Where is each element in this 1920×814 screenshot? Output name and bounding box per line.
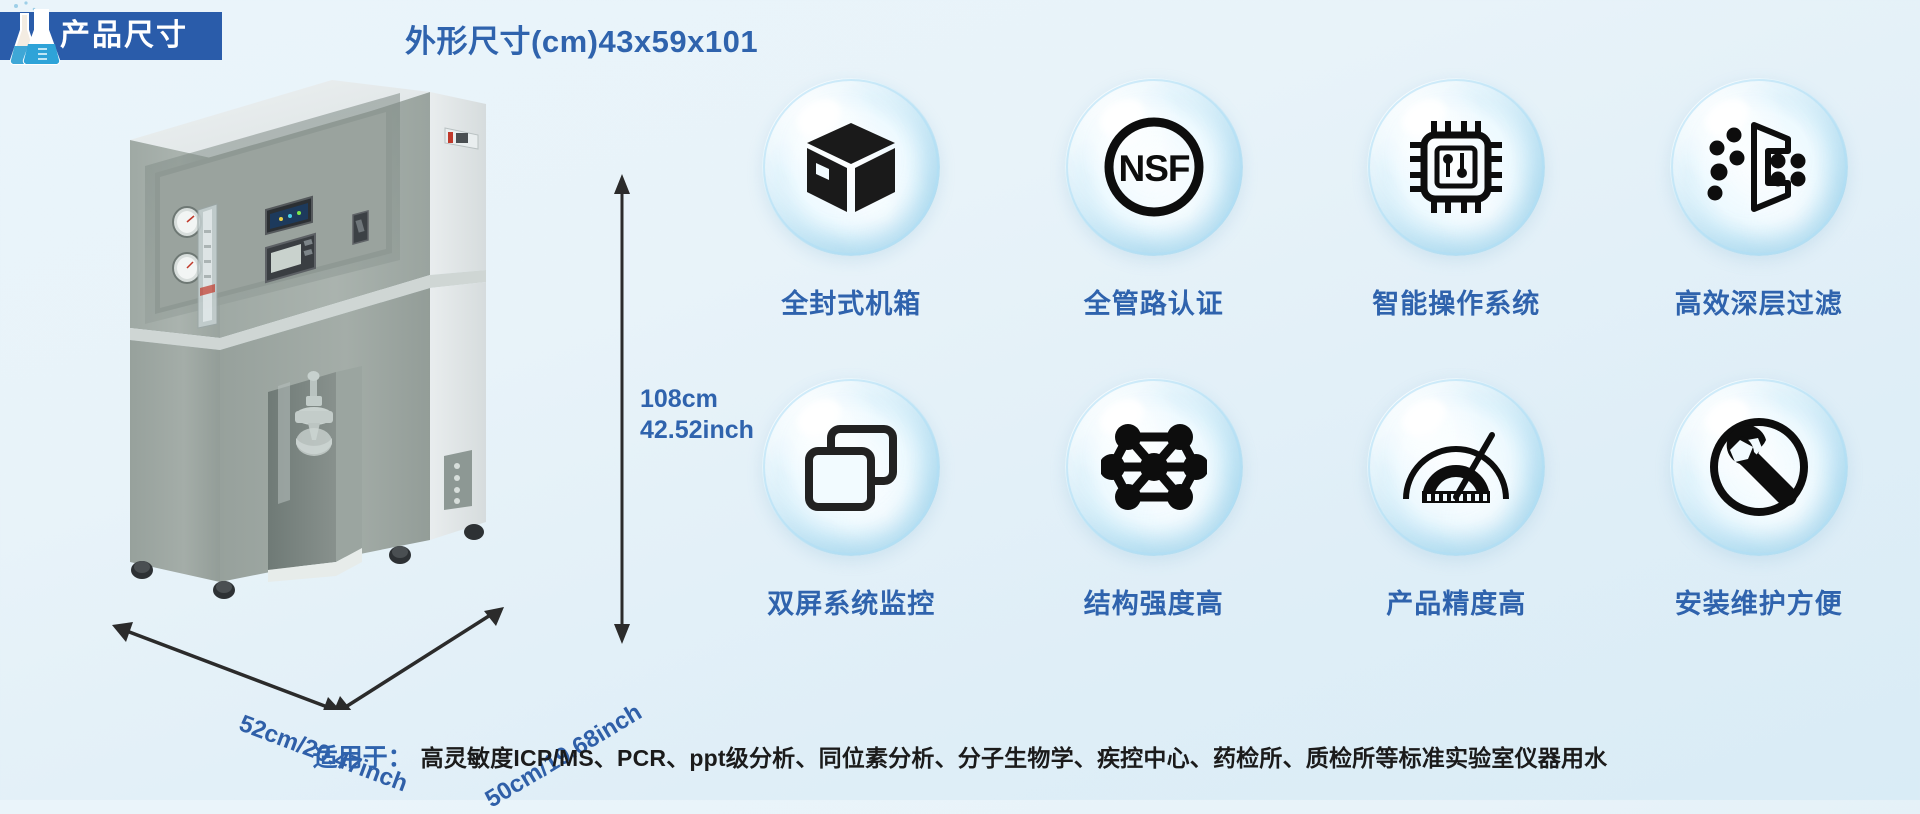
feature-bubble: NSF <box>1065 78 1243 256</box>
lattice-icon <box>1101 415 1207 519</box>
feature-item-nsf-certified[interactable]: NSF 全管路认证 <box>1003 78 1306 378</box>
feature-bubble <box>1065 378 1243 556</box>
feature-bubble <box>1670 378 1848 556</box>
gauge-icon <box>1400 427 1512 507</box>
product-figure: 108cm 42.52inch 52cm/20.47inch 50cm/19.6… <box>100 70 660 710</box>
feature-label: 产品精度高 <box>1386 582 1526 621</box>
feature-label: 全封式机箱 <box>781 282 921 321</box>
feature-bubble <box>762 78 940 256</box>
feature-label: 全管路认证 <box>1084 282 1224 321</box>
feature-label: 双屏系统监控 <box>767 582 935 621</box>
feature-bubble <box>762 378 940 556</box>
filter-icon <box>1706 117 1812 217</box>
infographic-root: 产品尺寸 外形尺寸(cm)43x59x101 <box>0 0 1920 800</box>
dual-screen-icon <box>801 421 901 513</box>
page-title: 外形尺寸(cm)43x59x101 <box>405 16 758 61</box>
feature-label: 结构强度高 <box>1084 582 1224 621</box>
application-note-tag: 适用于： <box>313 738 413 774</box>
wrench-circle-icon <box>1706 414 1812 520</box>
chip-icon <box>1404 115 1508 219</box>
section-badge-label: 产品尺寸 <box>60 21 188 51</box>
feature-item-easy-maintenance[interactable]: 安装维护方便 <box>1608 378 1911 678</box>
feature-item-dual-screen[interactable]: 双屏系统监控 <box>700 378 1003 678</box>
feature-item-smart-os[interactable]: 智能操作系统 <box>1305 78 1608 378</box>
feature-label: 智能操作系统 <box>1372 282 1540 321</box>
svg-text:NSF: NSF <box>1118 148 1189 189</box>
nsf-badge-icon: NSF <box>1100 113 1208 221</box>
feature-bubble <box>1367 378 1545 556</box>
section-badge: 产品尺寸 <box>0 12 222 60</box>
flask-icon <box>4 0 64 68</box>
feature-label: 安装维护方便 <box>1675 582 1843 621</box>
box-icon <box>801 117 901 217</box>
feature-label: 高效深层过滤 <box>1675 282 1843 321</box>
application-note: 适用于： 高灵敏度ICP/MS、PCR、ppt级分析、同位素分析、分子生物学、疾… <box>0 738 1920 774</box>
feature-item-deep-filtration[interactable]: 高效深层过滤 <box>1608 78 1911 378</box>
feature-bubble <box>1670 78 1848 256</box>
application-note-text: 高灵敏度ICP/MS、PCR、ppt级分析、同位素分析、分子生物学、疾控中心、药… <box>421 739 1608 773</box>
feature-bubble <box>1367 78 1545 256</box>
feature-grid: 全封式机箱 NSF 全管路认证 <box>700 78 1910 678</box>
feature-item-structural-strength[interactable]: 结构强度高 <box>1003 378 1306 678</box>
feature-item-sealed-cabinet[interactable]: 全封式机箱 <box>700 78 1003 378</box>
feature-item-high-precision[interactable]: 产品精度高 <box>1305 378 1608 678</box>
product-illustration <box>100 70 660 710</box>
